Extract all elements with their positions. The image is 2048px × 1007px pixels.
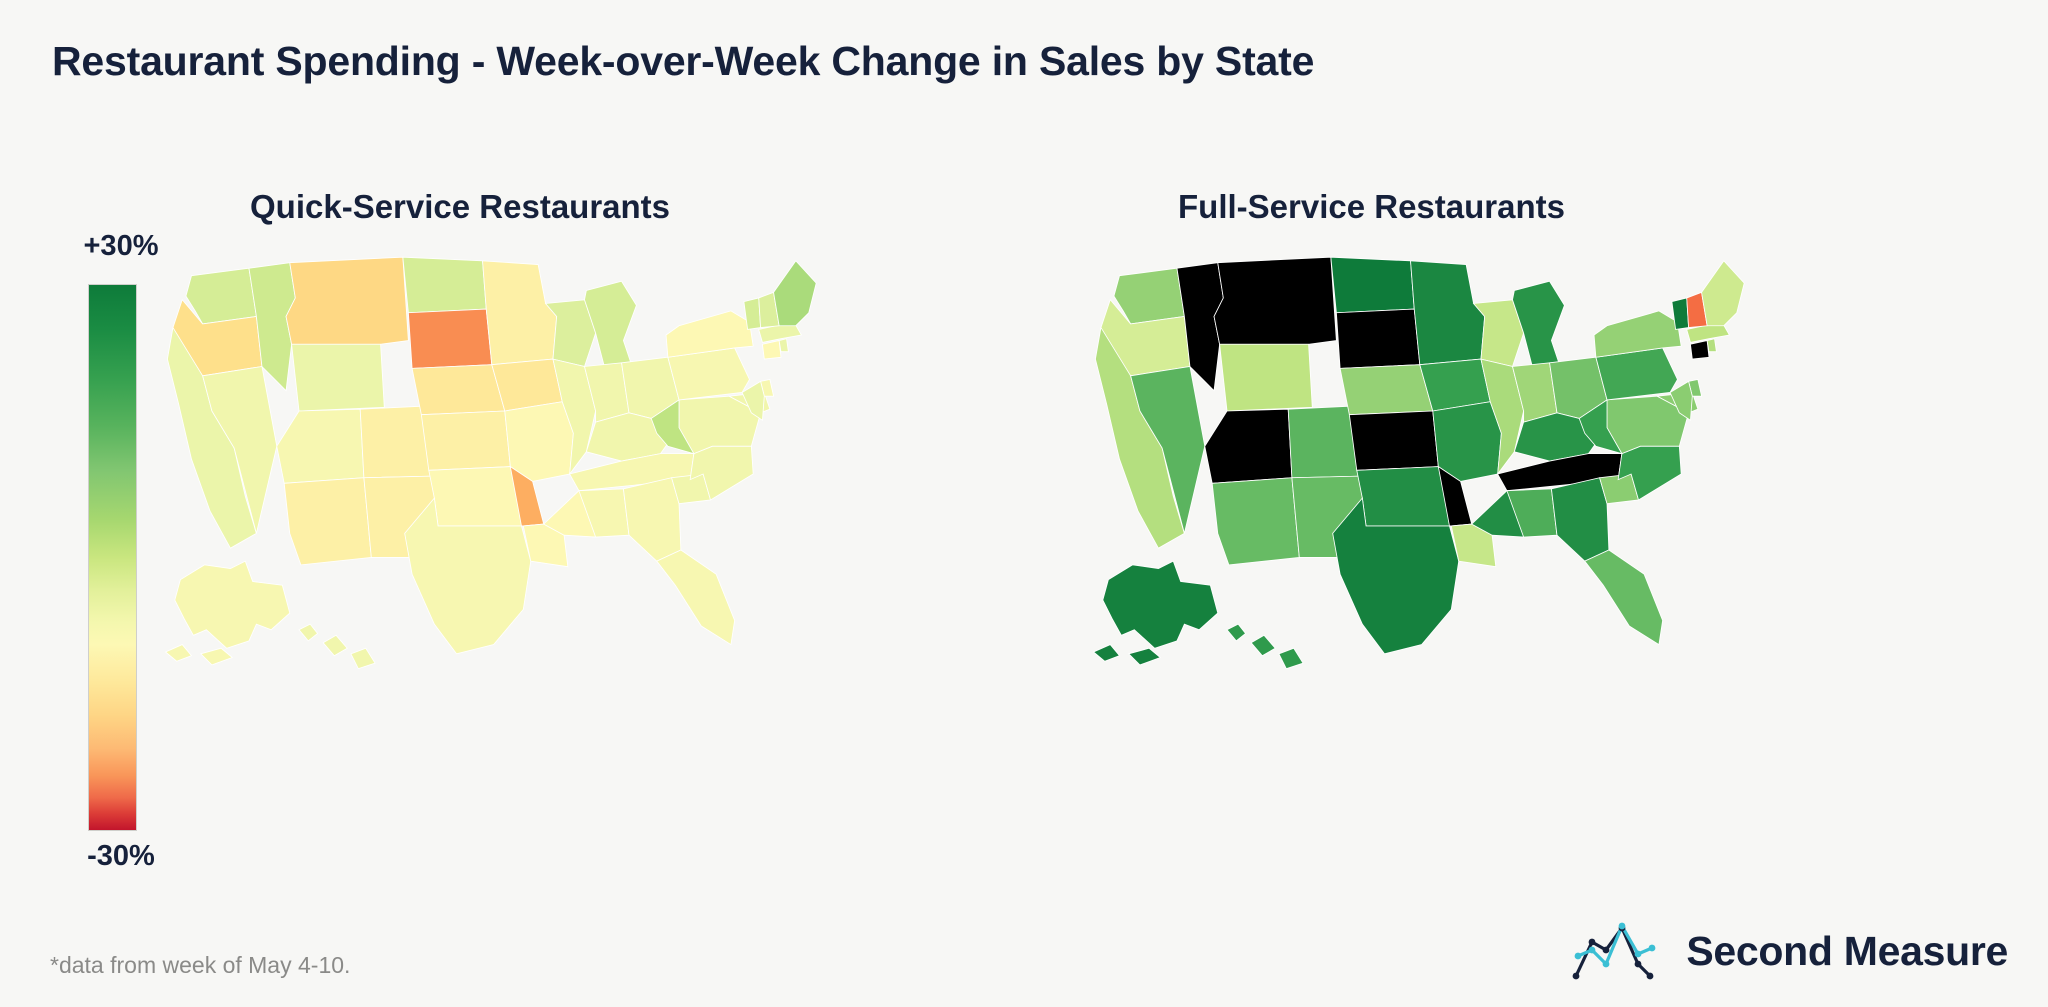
state-nd bbox=[403, 257, 486, 313]
brand-name: Second Measure bbox=[1686, 928, 2008, 975]
state-ct bbox=[762, 341, 781, 360]
state-mn bbox=[1411, 261, 1485, 365]
state-ut bbox=[1205, 409, 1292, 483]
state-ks bbox=[1349, 411, 1438, 470]
state-ny bbox=[1594, 311, 1681, 357]
state-sd bbox=[408, 309, 491, 368]
state-ri bbox=[779, 339, 788, 352]
state-wy bbox=[1220, 344, 1313, 411]
state-ri bbox=[1707, 339, 1716, 352]
state-fl bbox=[1585, 550, 1663, 645]
choropleth-map-full-service bbox=[1088, 255, 1848, 719]
state-wa bbox=[1114, 268, 1184, 324]
state-ok bbox=[1357, 467, 1452, 526]
state-ny bbox=[666, 311, 753, 357]
state-ak bbox=[1094, 561, 1218, 665]
state-ut bbox=[277, 409, 364, 483]
brand-logo: Second Measure bbox=[1572, 920, 2008, 982]
choropleth-map-quick-service bbox=[160, 255, 920, 719]
state-ak bbox=[166, 561, 290, 665]
page-title: Restaurant Spending - Week-over-Week Cha… bbox=[52, 38, 1314, 85]
state-ks bbox=[421, 411, 510, 470]
legend-min-label: -30% bbox=[56, 840, 186, 873]
state-ct bbox=[1690, 341, 1709, 360]
footnote: *data from week of May 4-10. bbox=[50, 952, 350, 979]
state-wy bbox=[292, 344, 385, 411]
state-ga bbox=[623, 478, 680, 561]
state-ga bbox=[1551, 478, 1608, 561]
state-az bbox=[284, 478, 371, 565]
state-ne bbox=[1340, 365, 1433, 415]
state-sd bbox=[1336, 309, 1419, 368]
state-hi bbox=[299, 624, 375, 668]
state-mt bbox=[286, 257, 408, 344]
state-mt bbox=[1214, 257, 1336, 344]
state-me bbox=[774, 261, 817, 326]
state-az bbox=[1212, 478, 1299, 565]
state-mn bbox=[483, 261, 557, 365]
legend-gradient-bar bbox=[88, 284, 137, 831]
state-fl bbox=[657, 550, 735, 645]
line-chart-logo-icon bbox=[1572, 920, 1668, 982]
panel-title-quick-service: Quick-Service Restaurants bbox=[250, 188, 670, 226]
state-wa bbox=[186, 268, 256, 324]
state-me bbox=[1702, 261, 1745, 326]
state-hi bbox=[1227, 624, 1303, 668]
panel-title-full-service: Full-Service Restaurants bbox=[1178, 188, 1565, 226]
state-nd bbox=[1331, 257, 1414, 313]
state-ok bbox=[429, 467, 524, 526]
state-ne bbox=[412, 365, 505, 415]
